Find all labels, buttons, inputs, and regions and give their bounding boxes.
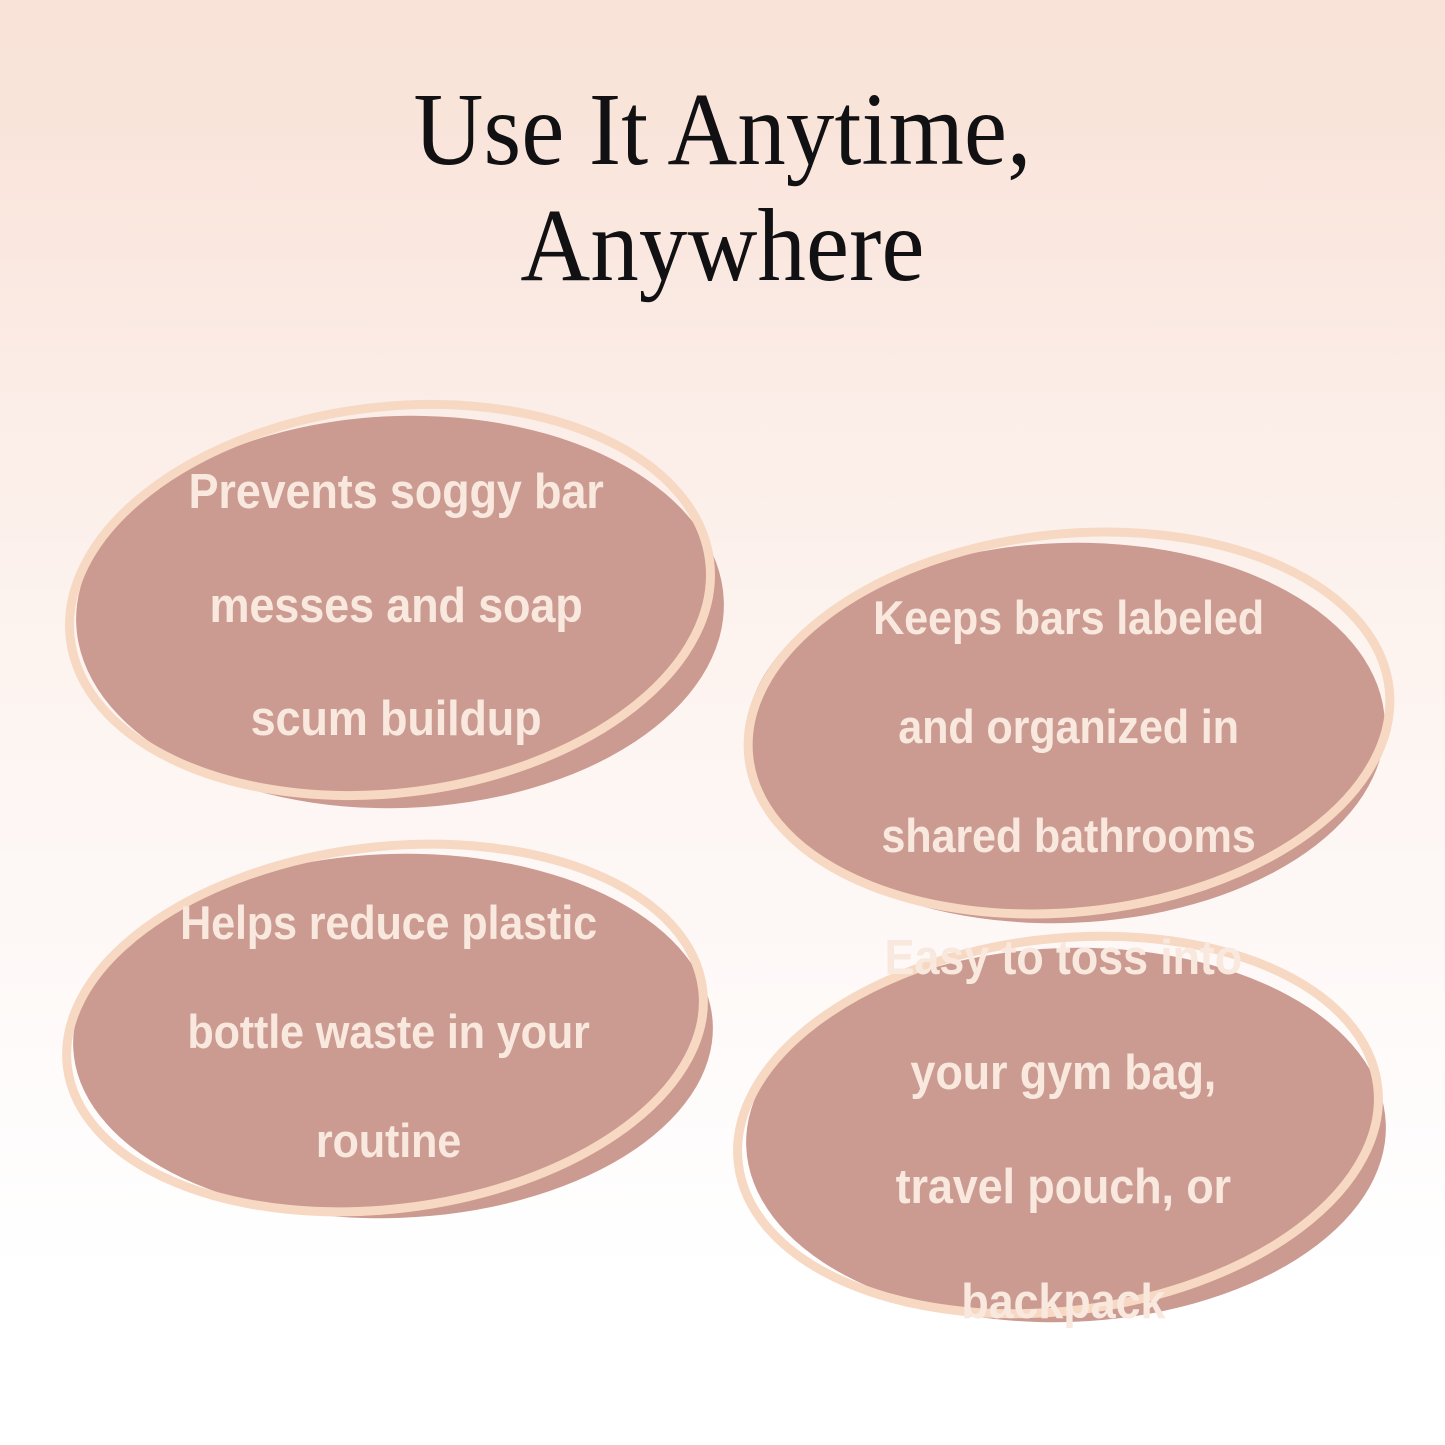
page-title-line-1: Use It Anytime, — [51, 72, 1395, 188]
oval-shape — [735, 527, 1403, 927]
oval-shape — [728, 933, 1398, 1328]
page-title: Use It Anytime, Anywhere — [0, 72, 1445, 305]
benefit-oval-easy-to-toss-into-bag: Easy to toss into your gym bag, travel p… — [728, 933, 1398, 1328]
infographic-canvas: Use It Anytime, Anywhere Prevents soggy … — [0, 0, 1445, 1445]
oval-shape — [55, 840, 723, 1225]
page-title-line-2: Anywhere — [51, 188, 1395, 304]
benefit-oval-prevents-soggy-bar-messes: Prevents soggy bar messes and soap scum … — [60, 398, 732, 814]
benefit-oval-reduce-plastic-bottle-waste: Helps reduce plastic bottle waste in you… — [55, 840, 723, 1225]
oval-shape — [60, 398, 732, 814]
benefit-oval-keeps-bars-labeled: Keeps bars labeled and organized in shar… — [735, 527, 1403, 927]
oval-fill — [67, 843, 719, 1229]
